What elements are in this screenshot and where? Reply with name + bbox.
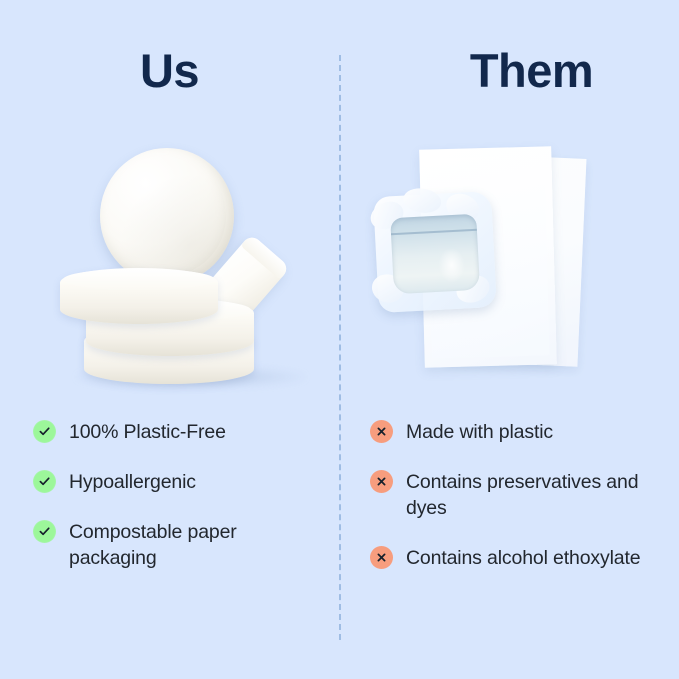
list-item: Hypoallergenic: [33, 468, 323, 495]
comparison-infographic: Us 100% Plastic-Free: [0, 0, 679, 679]
tablet-stack-top: [60, 268, 218, 324]
tablet-upright-disc: [100, 148, 234, 284]
column-them: Them: [340, 0, 679, 679]
liquid-surface-line: [391, 229, 477, 235]
list-item-label: Compostable paper packaging: [69, 518, 323, 571]
liquid-highlight: [438, 248, 466, 283]
list-item-label: Contains alcohol ethoxylate: [406, 544, 640, 571]
check-icon: [33, 520, 56, 543]
list-item: Contains preservatives and dyes: [370, 468, 670, 521]
sachet-liquid: [390, 214, 480, 294]
list-item: Contains alcohol ethoxylate: [370, 544, 670, 571]
check-icon: [33, 420, 56, 443]
list-item-label: Contains preservatives and dyes: [406, 468, 670, 521]
them-feature-list: Made with plastic Contains preservatives…: [370, 418, 670, 595]
list-item: Compostable paper packaging: [33, 518, 323, 571]
list-item: Made with plastic: [370, 418, 670, 445]
plastic-sachet-and-wipes-illustration: [376, 136, 656, 394]
column-us: Us 100% Plastic-Free: [0, 0, 339, 679]
list-item-label: Made with plastic: [406, 418, 553, 445]
us-product-image: [0, 130, 339, 400]
cross-icon: [370, 546, 393, 569]
list-item-label: Hypoallergenic: [69, 468, 196, 495]
us-feature-list: 100% Plastic-Free Hypoallergenic Compost…: [33, 418, 323, 595]
plastic-sachet: [373, 191, 497, 313]
cross-icon: [370, 420, 393, 443]
cross-icon: [370, 470, 393, 493]
list-item: 100% Plastic-Free: [33, 418, 323, 445]
cleaning-tablets-illustration: [58, 148, 328, 398]
column-them-heading: Them: [340, 47, 679, 94]
list-item-label: 100% Plastic-Free: [69, 418, 226, 445]
them-product-image: [340, 130, 679, 400]
check-icon: [33, 470, 56, 493]
